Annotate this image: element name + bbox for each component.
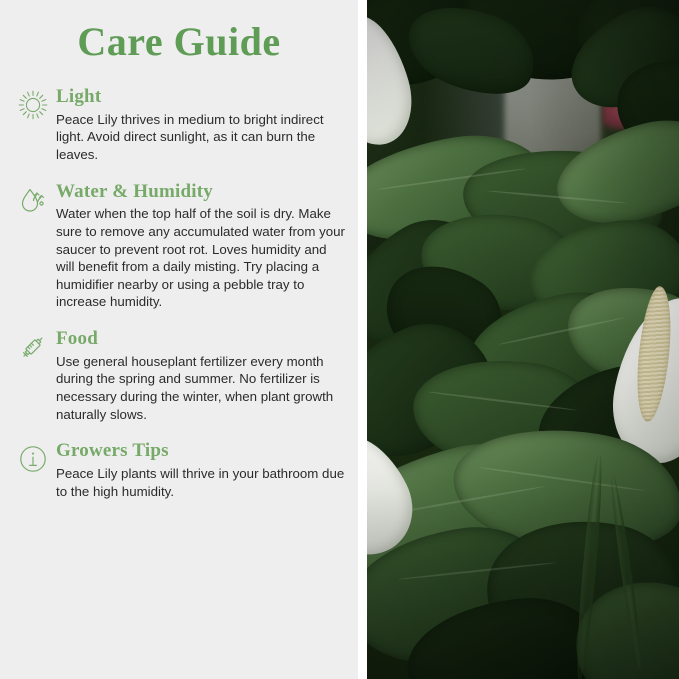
care-section-body: Peace Lily plants will thrive in your ba… [56, 465, 348, 500]
care-section-light: Light Peace Lily thrives in medium to br… [0, 86, 358, 164]
care-guide-page: Care Guide [0, 0, 679, 679]
care-section-heading: Food [56, 328, 348, 350]
peace-lily-photo [367, 0, 679, 679]
care-section-heading: Light [56, 86, 348, 108]
care-section-body: Use general houseplant fertilizer every … [56, 353, 348, 423]
care-section-heading: Water & Humidity [56, 181, 348, 203]
care-section-growers-tips: Growers Tips Peace Lily plants will thri… [0, 440, 358, 500]
care-section-body: Peace Lily thrives in medium to bright i… [56, 111, 348, 164]
photo-foliage [367, 0, 679, 679]
care-guide-panel: Care Guide [0, 0, 358, 679]
info-circle-icon [16, 442, 50, 476]
panel-photo-divider [358, 0, 367, 679]
sun-icon [16, 88, 50, 122]
care-section-heading: Growers Tips [56, 440, 348, 462]
syringe-icon [16, 330, 50, 364]
care-section-water-humidity: Water & Humidity Water when the top half… [0, 181, 358, 311]
care-section-food: Food Use general houseplant fertilizer e… [0, 328, 358, 423]
care-sections-list: Light Peace Lily thrives in medium to br… [0, 86, 358, 517]
care-section-body: Water when the top half of the soil is d… [56, 205, 348, 311]
water-droplet-humidity-icon [16, 183, 50, 217]
page-title: Care Guide [0, 20, 358, 64]
